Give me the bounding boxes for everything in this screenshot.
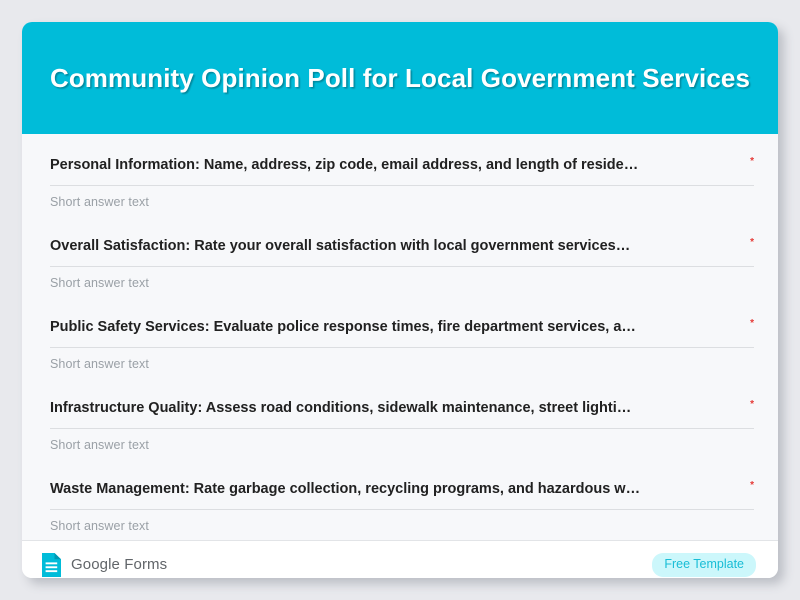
answer-placeholder[interactable]: Short answer text	[50, 194, 750, 210]
answer-placeholder[interactable]: Short answer text	[50, 437, 750, 453]
answer-field-divider	[50, 509, 754, 510]
required-asterisk-icon: *	[750, 319, 754, 329]
answer-field-divider	[50, 185, 754, 186]
question-label: Overall Satisfaction: Rate your overall …	[50, 237, 745, 256]
form-footer: Google Forms Free Template	[22, 540, 778, 578]
answer-placeholder[interactable]: Short answer text	[50, 275, 750, 291]
question-row[interactable]: Infrastructure Quality: Assess road cond…	[50, 399, 750, 453]
google-forms-icon	[42, 553, 61, 577]
question-header: Infrastructure Quality: Assess road cond…	[50, 399, 754, 418]
brand-label: Google Forms	[71, 556, 167, 573]
answer-field-divider	[50, 347, 754, 348]
answer-field-divider	[50, 428, 754, 429]
question-row[interactable]: Waste Management: Rate garbage collectio…	[50, 480, 750, 534]
required-asterisk-icon: *	[750, 481, 754, 491]
page-title: Community Opinion Poll for Local Governm…	[50, 62, 750, 95]
question-label: Waste Management: Rate garbage collectio…	[50, 480, 745, 499]
question-header: Personal Information: Name, address, zip…	[50, 156, 754, 175]
required-asterisk-icon: *	[750, 157, 754, 167]
question-header: Waste Management: Rate garbage collectio…	[50, 480, 754, 499]
question-header: Public Safety Services: Evaluate police …	[50, 318, 754, 337]
form-preview-card: Community Opinion Poll for Local Governm…	[22, 22, 778, 578]
form-questions-list: Personal Information: Name, address, zip…	[22, 134, 778, 540]
answer-placeholder[interactable]: Short answer text	[50, 356, 750, 372]
free-template-badge[interactable]: Free Template	[652, 553, 756, 577]
question-label: Personal Information: Name, address, zip…	[50, 156, 745, 175]
question-row[interactable]: Personal Information: Name, address, zip…	[50, 156, 750, 210]
question-header: Overall Satisfaction: Rate your overall …	[50, 237, 754, 256]
answer-field-divider	[50, 266, 754, 267]
question-label: Infrastructure Quality: Assess road cond…	[50, 399, 745, 418]
question-row[interactable]: Overall Satisfaction: Rate your overall …	[50, 237, 750, 291]
question-label: Public Safety Services: Evaluate police …	[50, 318, 745, 337]
answer-placeholder[interactable]: Short answer text	[50, 518, 750, 534]
question-row[interactable]: Public Safety Services: Evaluate police …	[50, 318, 750, 372]
brand-group: Google Forms	[42, 553, 167, 577]
required-asterisk-icon: *	[750, 400, 754, 410]
required-asterisk-icon: *	[750, 238, 754, 248]
form-header-banner: Community Opinion Poll for Local Governm…	[22, 22, 778, 134]
